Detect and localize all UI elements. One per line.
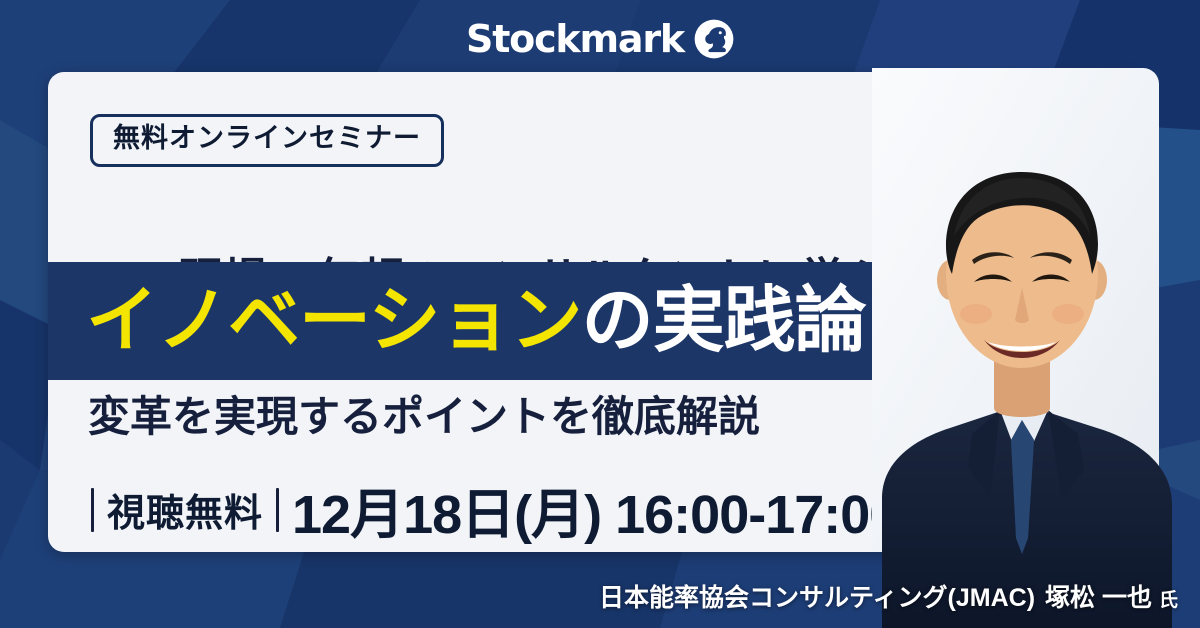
squirrel-icon — [694, 19, 734, 59]
description-line: 変革を実現するポイントを徹底解説 — [88, 394, 760, 440]
free-viewing-label: 視聴無料 — [107, 482, 263, 537]
credit-speaker-name: 塚松 一也 — [1045, 584, 1152, 612]
divider-right — [276, 488, 279, 532]
date-row: 視聴無料 12月18日(月) 16:00-17:00 — [78, 470, 898, 549]
webinar-banner: Stockmark 無料オンラインセミナー R&D現場30年超のコンサルタントに… — [0, 0, 1200, 628]
main-title: イノベーションの実践論 — [48, 285, 866, 357]
title-rest: の実践論 — [582, 281, 866, 361]
title-band: イノベーションの実践論 — [48, 262, 1143, 380]
brand-logo: Stockmark — [0, 14, 1200, 64]
credit-organization: 日本能率協会コンサルティング(JMAC) — [599, 584, 1035, 612]
content-card: 無料オンラインセミナー R&D現場30年超のコンサルタントに学ぶ イノベーション… — [48, 72, 1143, 552]
divider-left — [91, 488, 94, 532]
speaker-credit: 日本能率協会コンサルティング(JMAC)塚松 一也氏 — [0, 578, 1200, 614]
seminar-badge: 無料オンラインセミナー — [90, 114, 444, 167]
event-datetime: 12月18日(月) 16:00-17:00 — [292, 470, 898, 549]
title-highlight: イノベーション — [86, 281, 582, 361]
brand-name: Stockmark — [466, 20, 684, 58]
credit-honorific: 氏 — [1159, 590, 1178, 611]
